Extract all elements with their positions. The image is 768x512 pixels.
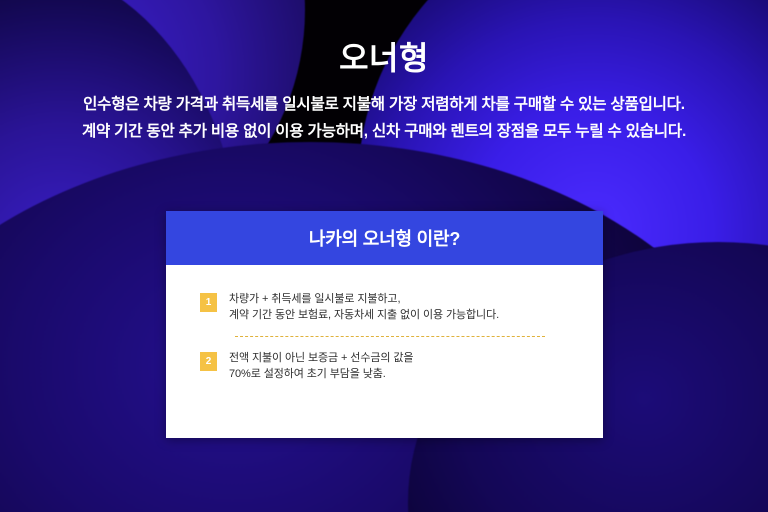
list-item-number-badge: 2 xyxy=(200,352,217,371)
list-item-number-badge: 1 xyxy=(200,293,217,312)
list-item-text: 차량가 + 취득세를 일시불로 지불하고, 계약 기간 동안 보험료, 자동차세… xyxy=(229,291,499,323)
list-item-text-line-2: 계약 기간 동안 보험료, 자동차세 지출 없이 이용 가능합니다. xyxy=(229,307,499,323)
list-item-text-line-2: 70%로 설정하여 초기 부담을 낮춤. xyxy=(229,366,413,382)
list-item: 1 차량가 + 취득세를 일시불로 지불하고, 계약 기간 동안 보험료, 자동… xyxy=(200,291,569,323)
hero-subtitle-line-2: 계약 기간 동안 추가 비용 없이 이용 가능하며, 신차 구매와 렌트의 장점… xyxy=(0,119,768,144)
promo-banner: 오너형 인수형은 차량 가격과 취득세를 일시불로 지불해 가장 저렴하게 차를… xyxy=(0,0,768,512)
hero-section: 오너형 인수형은 차량 가격과 취득세를 일시불로 지불해 가장 저렴하게 차를… xyxy=(0,36,768,144)
list-item-text: 전액 지불이 아닌 보증금 + 선수금의 값을 70%로 설정하여 초기 부담을… xyxy=(229,350,413,382)
dashed-divider xyxy=(235,336,545,337)
hero-subtitle-line-1: 인수형은 차량 가격과 취득세를 일시불로 지불해 가장 저렴하게 차를 구매할… xyxy=(0,92,768,117)
list-item-text-line-1: 전액 지불이 아닌 보증금 + 선수금의 값을 xyxy=(229,350,413,366)
list-item-text-line-1: 차량가 + 취득세를 일시불로 지불하고, xyxy=(229,291,499,307)
info-card-body: 1 차량가 + 취득세를 일시불로 지불하고, 계약 기간 동안 보험료, 자동… xyxy=(166,265,603,438)
info-card-header: 나카의 오너형 이란? xyxy=(166,211,603,265)
list-item: 2 전액 지불이 아닌 보증금 + 선수금의 값을 70%로 설정하여 초기 부… xyxy=(200,350,569,382)
page-title: 오너형 xyxy=(0,36,768,80)
info-card: 나카의 오너형 이란? 1 차량가 + 취득세를 일시불로 지불하고, 계약 기… xyxy=(166,211,603,438)
info-card-title: 나카의 오너형 이란? xyxy=(309,225,460,251)
